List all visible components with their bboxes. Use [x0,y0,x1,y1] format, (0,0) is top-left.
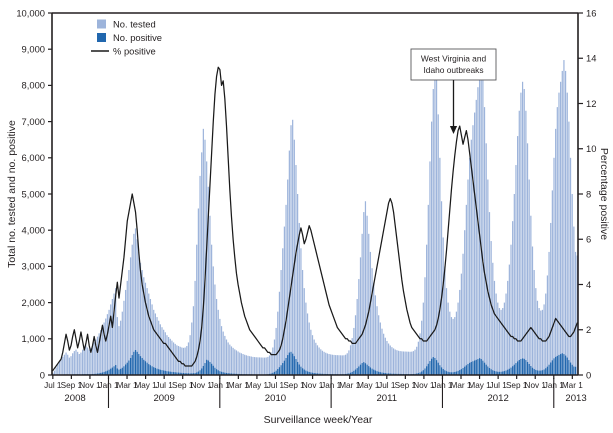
bar-tested [428,205,429,375]
bar-tested [75,350,76,375]
y2-tick-label: 8 [586,188,591,199]
bar-tested [252,357,253,375]
bar-positive [137,352,138,375]
bar-positive [491,369,492,375]
bar-tested [545,294,546,375]
x-tick-label: Jul 1 [378,381,396,390]
legend-swatch [97,20,106,29]
bar-positive [373,370,374,375]
bar-tested [479,75,480,375]
bar-positive [532,368,533,375]
bar-positive [438,363,439,375]
bar-positive [300,367,301,375]
bar-tested [535,288,536,375]
y2-tick-label: 10 [586,143,596,154]
bar-tested [272,347,273,375]
bar-tested [80,353,81,375]
bar-positive [568,360,569,375]
bar-tested [345,355,346,375]
bar-tested [510,245,511,375]
bar-positive [476,360,477,375]
bar-positive [148,364,149,375]
bar-positive [548,365,549,375]
bar-tested [307,313,308,375]
bar-tested [343,355,344,375]
bar-tested [504,303,505,375]
bar-positive [575,367,576,375]
y-axis-right-labels: 0246810121416 [578,7,596,380]
bar-tested [376,306,377,375]
y2-tick-label: 16 [586,7,596,18]
y2-axis-title: Percentage positive [598,148,610,240]
bar-tested [507,281,508,375]
bar-positive [295,359,296,375]
bar-tested [522,82,523,375]
bar-tested [418,342,419,375]
bar-tested [295,165,296,375]
bar-positive [527,362,528,375]
bar-tested [237,351,238,375]
bar-tested [366,216,367,375]
bar-positive [153,367,154,375]
x-axis-title: Surveillance week/Year [264,414,373,426]
bar-tested [289,151,290,375]
bar-tested [314,340,315,375]
bar-tested [254,357,255,375]
bar-positive [127,363,128,375]
bar-tested [128,270,129,375]
bar-tested [413,351,414,375]
bar-tested [330,354,331,375]
bar-tested [173,342,174,375]
bar-tested [183,348,184,375]
bar-positive [155,368,156,375]
bar-tested [547,275,548,375]
bar-tested [290,125,291,375]
bar-positive [147,363,148,375]
bar-tested [257,357,258,375]
bar-positive [213,366,214,375]
bar-tested [340,355,341,375]
bar-tested [310,330,311,375]
bar-positive [209,362,210,375]
bar-tested [87,347,88,375]
bar-positive [474,361,475,375]
bar-tested [62,357,63,375]
annotation-arrow-icon [450,126,457,134]
bars-group [52,60,578,375]
bar-tested [570,158,571,375]
bar-tested [118,326,119,375]
bar-positive [562,353,563,375]
bar-tested [540,311,541,375]
bar-tested [360,257,361,375]
bar-positive [214,368,215,375]
bar-tested [320,349,321,375]
bar-tested [350,345,351,375]
bar-tested [539,308,540,375]
bar-positive [123,366,124,375]
x-tick-label: May 1 [246,381,269,390]
year-label: 2012 [487,393,508,404]
bar-tested [153,310,154,375]
x-tick-label: Jul 1 [44,381,62,390]
bar-tested [102,326,103,375]
bar-tested [333,355,334,375]
legend: No. testedNo. positive% positive [91,19,162,57]
bar-positive [368,366,369,375]
bar-positive [520,359,521,375]
percent-positive-line [53,67,577,370]
bar-tested [264,358,265,375]
bar-positive [489,368,490,375]
bar-tested [65,353,66,375]
bar-positive [304,370,305,375]
bar-tested [573,227,574,375]
y-tick-label: 2,000 [22,297,45,308]
bar-tested [233,348,234,375]
year-label: 2010 [265,393,286,404]
bar-tested [421,321,422,375]
bar-positive [363,362,364,375]
bar-positive [467,364,468,375]
bar-positive [112,368,113,375]
bar-positive [515,363,516,375]
bar-positive [519,360,520,375]
bar-positive [543,370,544,376]
bar-positive [563,354,564,375]
bar-tested [449,312,450,375]
bar-positive [145,361,146,375]
bar-tested [378,315,379,375]
bar-positive [466,365,467,375]
bar-tested [400,351,401,375]
bar-tested [555,129,556,375]
bar-positive [143,360,144,375]
bar-positive [156,369,157,375]
bar-tested [231,346,232,375]
bar-positive [282,363,283,375]
bar-positive [277,369,278,375]
legend-label: % positive [113,46,156,57]
bar-positive [429,361,430,375]
bar-positive [118,370,119,375]
y-tick-label: 5,000 [22,188,45,199]
x-axis-labels: Jul 1Sep 1Nov 1Jan 1Mar 1May 1Jul 1Sep 1… [44,375,583,390]
bar-tested [383,334,384,375]
bar-tested [82,350,83,375]
bar-tested [368,234,369,375]
bar-positive [138,354,139,375]
bar-tested [486,143,487,375]
bar-positive [486,365,487,375]
bar-tested [550,223,551,375]
bar-positive [115,365,116,375]
bar-positive [560,354,561,375]
bar-tested [342,355,343,375]
bar-tested [219,319,220,375]
bar-tested [496,294,497,375]
bar-positive [534,369,535,375]
y-axis-title: Total no. tested and no. positive [6,120,18,268]
bar-tested [446,288,447,375]
bar-tested [155,313,156,375]
bar-tested [156,317,157,375]
bar-positive [439,365,440,375]
x-tick-label: May 1 [134,381,157,390]
bar-tested [274,340,275,375]
bar-tested [552,190,553,375]
bar-tested [266,357,267,375]
bar-tested [436,78,437,375]
bar-tested [405,352,406,375]
bar-positive [130,358,131,375]
bar-tested [443,237,444,375]
bar-tested [226,340,227,375]
bar-positive [567,358,568,375]
bar-tested [246,355,247,375]
year-label: 2009 [153,393,174,404]
bar-tested [459,290,460,375]
bar-tested [145,283,146,375]
bar-tested [380,323,381,375]
bar-positive [573,367,574,375]
bar-positive [284,361,285,375]
annotation-line-2: Idaho outbreaks [423,65,483,75]
bar-tested [249,356,250,375]
bar-positive [302,368,303,375]
bar-tested [426,245,427,375]
bar-tested [229,345,230,375]
bar-tested [423,303,424,375]
bar-tested [60,359,61,375]
bar-tested [67,355,68,375]
bar-tested [348,350,349,375]
bar-tested [218,310,219,375]
bar-positive [132,355,133,375]
bar-tested [223,332,224,375]
bar-positive [443,369,444,375]
bar-positive [434,358,435,375]
bar-positive [125,365,126,376]
bar-tested [457,303,458,375]
bar-positive [289,353,290,375]
bar-tested [328,354,329,375]
bar-positive [135,350,136,375]
bar-tested [472,125,473,375]
bar-tested [410,352,411,375]
bar-positive [424,368,425,375]
y-tick-label: 9,000 [22,44,45,55]
bar-tested [502,308,503,375]
bar-tested [122,312,123,375]
y-tick-label: 8,000 [22,80,45,91]
bar-tested [565,71,566,375]
bar-tested [74,351,75,375]
bar-positive [279,367,280,375]
bar-tested [529,180,530,375]
bar-positive [481,359,482,375]
bar-tested [123,301,124,375]
y-tick-label: 10,000 [16,7,45,18]
bar-tested [163,330,164,375]
bar-positive [522,358,523,375]
bar-positive [122,368,123,375]
bar-tested [315,343,316,375]
bar-tested [416,347,417,375]
bar-positive [479,358,480,375]
bar-tested [484,107,485,375]
bar-tested [464,230,465,375]
bar-tested [161,327,162,375]
bar-tested [542,310,543,375]
bar-tested [466,205,467,375]
bar-positive [366,365,367,375]
bar-tested [363,212,364,375]
bar-tested [165,332,166,375]
bar-tested [482,78,483,375]
y-tick-label: 4,000 [22,225,45,236]
bar-positive [299,365,300,376]
bar-tested [312,335,313,375]
bar-tested [204,140,205,375]
y2-tick-label: 2 [586,324,591,335]
bar-tested [259,357,260,375]
bar-tested [431,122,432,375]
bar-tested [203,129,204,375]
bar-tested [166,335,167,375]
bar-positive [555,357,556,375]
bar-positive [117,368,118,375]
bar-tested [408,352,409,375]
bar-positive [464,367,465,375]
bar-positive [201,368,202,375]
bar-positive [204,363,205,375]
bar-tested [456,312,457,375]
bar-positive [158,369,159,375]
bar-tested [213,266,214,375]
bar-tested [357,299,358,375]
bar-positive [280,365,281,375]
bar-tested [284,227,285,375]
bar-tested [158,321,159,375]
bar-tested [337,355,338,375]
bar-tested [186,346,187,375]
bar-tested [72,353,73,375]
bar-tested [97,337,98,375]
bar-tested [476,100,477,375]
bar-tested [130,257,131,375]
bar-tested [244,355,245,375]
bar-tested [362,234,363,375]
bar-tested [64,355,65,375]
bar-positive [565,356,566,375]
bar-positive [472,361,473,375]
legend-swatch [97,33,106,42]
bar-tested [429,161,430,375]
bar-tested [406,352,407,375]
bar-tested [269,355,270,375]
bar-tested [477,87,478,375]
bar-tested [512,221,513,375]
bar-tested [304,288,305,375]
x-tick-label: Jul 1 [489,381,507,390]
bar-tested [509,265,510,375]
bar-positive [150,365,151,375]
bar-positive [110,369,111,375]
bar-positive [357,368,358,375]
bar-positive [371,369,372,375]
bar-tested [305,303,306,375]
bar-tested [332,355,333,375]
bar-positive [524,359,525,375]
epidemiology-chart: 01,0002,0003,0004,0005,0006,0007,0008,00… [0,0,613,433]
x-tick-label: Jul 1 [267,381,285,390]
bar-positive [525,360,526,375]
y2-tick-label: 4 [586,279,591,290]
bar-tested [391,347,392,375]
bar-tested [365,201,366,375]
bar-tested [287,180,288,375]
bar-tested [438,114,439,375]
bar-tested [560,82,561,375]
bar-tested [327,353,328,375]
bar-tested [494,281,495,375]
bar-positive [517,361,518,375]
bar-tested [520,93,521,375]
bar-positive [509,369,510,375]
bar-tested [251,357,252,375]
y-tick-label: 6,000 [22,152,45,163]
bar-tested [474,113,475,375]
bar-tested [386,341,387,375]
bar-positive [558,355,559,375]
bar-positive [545,368,546,375]
bar-tested [150,299,151,375]
bar-tested [168,337,169,375]
bar-tested [530,216,531,375]
bar-positive [550,363,551,375]
bar-positive [461,369,462,375]
bar-tested [355,315,356,375]
bar-tested [221,326,222,375]
bar-tested [527,143,528,375]
bar-tested [562,71,563,375]
bar-tested [85,345,86,375]
bar-tested [317,345,318,375]
bar-tested [228,342,229,375]
bar-positive [292,354,293,375]
bar-tested [500,310,501,375]
bar-tested [390,346,391,376]
bar-tested [277,312,278,375]
bar-positive [370,367,371,375]
bar-tested [59,362,60,375]
bar-tested [302,270,303,375]
y-tick-label: 7,000 [22,116,45,127]
bar-tested [107,314,108,375]
bar-positive [290,352,291,375]
bar-positive [428,364,429,375]
bar-tested [77,352,78,375]
bar-tested [300,248,301,375]
x-tick-label: Jul 1 [156,381,174,390]
bar-tested [532,246,533,375]
bar-positive [510,368,511,375]
bar-tested [548,252,549,375]
bar-positive [471,362,472,375]
bar-tested [191,323,192,375]
